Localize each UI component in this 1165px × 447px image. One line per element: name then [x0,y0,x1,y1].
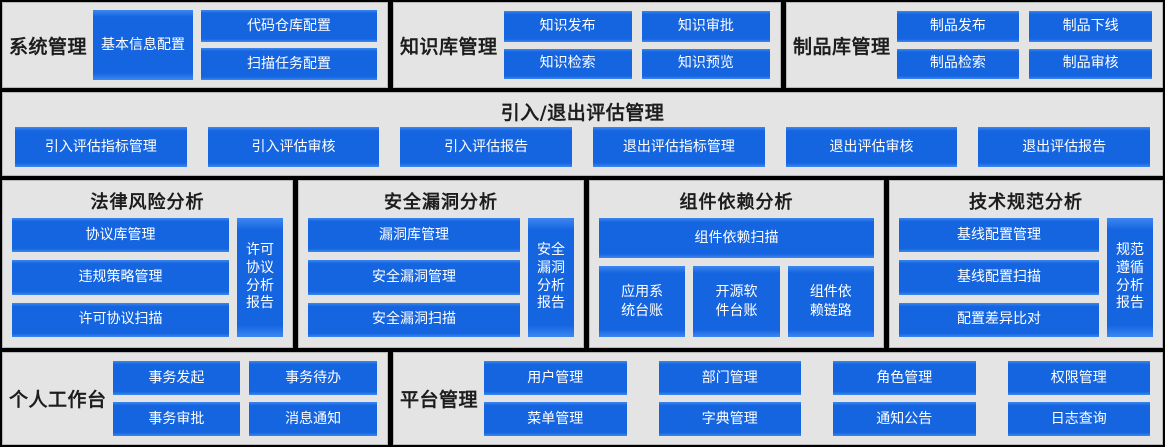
panel-system-management: 系统管理 基本信息配置 代码仓库配置 扫描任务配置 [2,2,388,88]
button-knowledge-approve[interactable]: 知识审批 [642,11,770,42]
button-line: 开源软 [715,283,757,301]
report-line: 分析 [246,278,274,296]
panel-technical-specification-analysis: 技术规范分析 基线配置管理 基线配置扫描 配置差异比对 规范 遵循 分析 报告 [889,180,1163,348]
row-bottom: 个人工作台 事务发起 事务待办 事务审批 消息通知 平台管理 用户管理 部门管理… [2,352,1163,445]
button-security-vuln-mgmt[interactable]: 安全漏洞管理 [308,260,520,294]
button-line: 组件依 [810,283,852,301]
panel-platform-management: 平台管理 用户管理 部门管理 角色管理 权限管理 菜单管理 字典管理 通知公告 … [393,352,1163,445]
panel-title-system-management: 系统管理 [3,3,93,87]
panel-component-dependency-analysis: 组件依赖分析 组件依赖扫描 应用系 统台账 开源软 件台账 [589,180,884,348]
platform-buttons: 用户管理 部门管理 角色管理 权限管理 菜单管理 字典管理 通知公告 日志查询 [484,353,1162,444]
button-code-repo-config[interactable]: 代码仓库配置 [201,10,377,42]
button-knowledge-preview[interactable]: 知识预览 [642,49,770,80]
panel-security-vulnerability-analysis: 安全漏洞分析 漏洞库管理 安全漏洞管理 安全漏洞扫描 安全 漏洞 分析 报告 [298,180,584,348]
button-security-vuln-analysis-report[interactable]: 安全 漏洞 分析 报告 [528,218,574,337]
button-role-management[interactable]: 角色管理 [833,361,976,395]
button-task-approve[interactable]: 事务审批 [113,402,241,436]
panel-personal-workbench: 个人工作台 事务发起 事务待办 事务审批 消息通知 [2,352,388,445]
button-artifact-offline[interactable]: 制品下线 [1029,11,1152,42]
button-notice-announcement[interactable]: 通知公告 [833,402,976,436]
panel-intro-exit-assessment: 引入/退出评估管理 引入评估指标管理 引入评估审核 引入评估报告 退出评估指标管… [2,92,1163,176]
report-line: 许可 [246,242,274,260]
button-violation-policy-mgmt[interactable]: 违规策略管理 [12,260,229,294]
panel-title-platform-management: 平台管理 [394,353,484,444]
workbench-buttons: 事务发起 事务待办 事务审批 消息通知 [113,353,387,444]
report-line: 报告 [246,295,274,313]
button-department-management[interactable]: 部门管理 [659,361,802,395]
button-log-query[interactable]: 日志查询 [1008,402,1151,436]
knowledge-base-buttons: 知识发布 知识审批 知识检索 知识预览 [504,3,780,87]
panel-title-component-dependency: 组件依赖分析 [590,181,883,218]
button-intro-assessment-review[interactable]: 引入评估审核 [208,127,380,167]
report-line: 安全 [537,242,565,260]
panel-title-knowledge-base: 知识库管理 [394,3,504,87]
module-map-board: 系统管理 基本信息配置 代码仓库配置 扫描任务配置 知识库管理 知识发布 知识审… [0,0,1165,447]
row-assessment: 引入/退出评估管理 引入评估指标管理 引入评估审核 引入评估报告 退出评估指标管… [2,92,1163,176]
report-line: 分析 [537,278,565,296]
system-management-buttons: 基本信息配置 代码仓库配置 扫描任务配置 [93,3,387,87]
button-specification-compliance-report[interactable]: 规范 遵循 分析 报告 [1107,218,1153,337]
button-task-todo[interactable]: 事务待办 [249,361,377,395]
assessment-buttons: 引入评估指标管理 引入评估审核 引入评估报告 退出评估指标管理 退出评估审核 退… [3,127,1162,175]
button-line: 件台账 [715,302,757,320]
button-opensource-software-ledger[interactable]: 开源软 件台账 [693,266,779,337]
button-knowledge-publish[interactable]: 知识发布 [504,11,632,42]
button-exit-assessment-metrics[interactable]: 退出评估指标管理 [593,127,765,167]
panel-title-security-vulnerability: 安全漏洞分析 [299,181,583,218]
button-license-analysis-report[interactable]: 许可 协议 分析 报告 [237,218,283,337]
panel-title-personal-workbench: 个人工作台 [3,353,113,444]
report-line: 遵循 [1116,260,1144,278]
button-line: 应用系 [621,283,663,301]
button-line: 赖链路 [810,302,852,320]
panel-title-legal-risk: 法律风险分析 [3,181,292,218]
button-vuln-library-mgmt[interactable]: 漏洞库管理 [308,218,520,252]
button-task-initiate[interactable]: 事务发起 [113,361,241,395]
button-basic-info-config[interactable]: 基本信息配置 [93,10,193,80]
report-line: 协议 [246,260,274,278]
report-line: 分析 [1116,278,1144,296]
panel-title-artifact-repo: 制品库管理 [787,3,897,87]
button-license-library-mgmt[interactable]: 协议库管理 [12,218,229,252]
button-license-agreement-scan[interactable]: 许可协议扫描 [12,303,229,337]
button-scan-task-config[interactable]: 扫描任务配置 [201,48,377,80]
button-message-notification[interactable]: 消息通知 [249,402,377,436]
button-menu-management[interactable]: 菜单管理 [484,402,627,436]
row-analysis: 法律风险分析 协议库管理 违规策略管理 许可协议扫描 许可 协议 分析 报告 [2,180,1163,348]
button-intro-assessment-report[interactable]: 引入评估报告 [400,127,572,167]
button-baseline-config-mgmt[interactable]: 基线配置管理 [899,218,1099,252]
report-line: 漏洞 [537,260,565,278]
button-user-management[interactable]: 用户管理 [484,361,627,395]
button-exit-assessment-review[interactable]: 退出评估审核 [786,127,958,167]
button-line: 统台账 [621,302,663,320]
report-line: 规范 [1116,242,1144,260]
button-artifact-audit[interactable]: 制品审核 [1029,49,1152,80]
button-dictionary-management[interactable]: 字典管理 [659,402,802,436]
button-artifact-publish[interactable]: 制品发布 [897,11,1020,42]
button-artifact-search[interactable]: 制品检索 [897,49,1020,80]
button-security-vuln-scan[interactable]: 安全漏洞扫描 [308,303,520,337]
button-application-system-ledger[interactable]: 应用系 统台账 [599,266,685,337]
report-line: 报告 [537,295,565,313]
button-intro-assessment-metrics[interactable]: 引入评估指标管理 [15,127,187,167]
button-permission-management[interactable]: 权限管理 [1008,361,1151,395]
row-top: 系统管理 基本信息配置 代码仓库配置 扫描任务配置 知识库管理 知识发布 知识审… [2,2,1163,88]
button-baseline-config-scan[interactable]: 基线配置扫描 [899,260,1099,294]
button-component-dependency-scan[interactable]: 组件依赖扫描 [599,218,874,258]
panel-title-assessment: 引入/退出评估管理 [3,93,1162,127]
panel-knowledge-base-management: 知识库管理 知识发布 知识审批 知识检索 知识预览 [393,2,781,88]
button-config-diff-compare[interactable]: 配置差异比对 [899,303,1099,337]
panel-legal-risk-analysis: 法律风险分析 协议库管理 违规策略管理 许可协议扫描 许可 协议 分析 报告 [2,180,293,348]
panel-artifact-repo-management: 制品库管理 制品发布 制品下线 制品检索 制品审核 [786,2,1163,88]
panel-title-technical-specification: 技术规范分析 [890,181,1162,218]
button-exit-assessment-report[interactable]: 退出评估报告 [978,127,1150,167]
artifact-repo-buttons: 制品发布 制品下线 制品检索 制品审核 [897,3,1162,87]
button-knowledge-search[interactable]: 知识检索 [504,49,632,80]
button-component-dependency-chain[interactable]: 组件依 赖链路 [788,266,874,337]
report-line: 报告 [1116,295,1144,313]
